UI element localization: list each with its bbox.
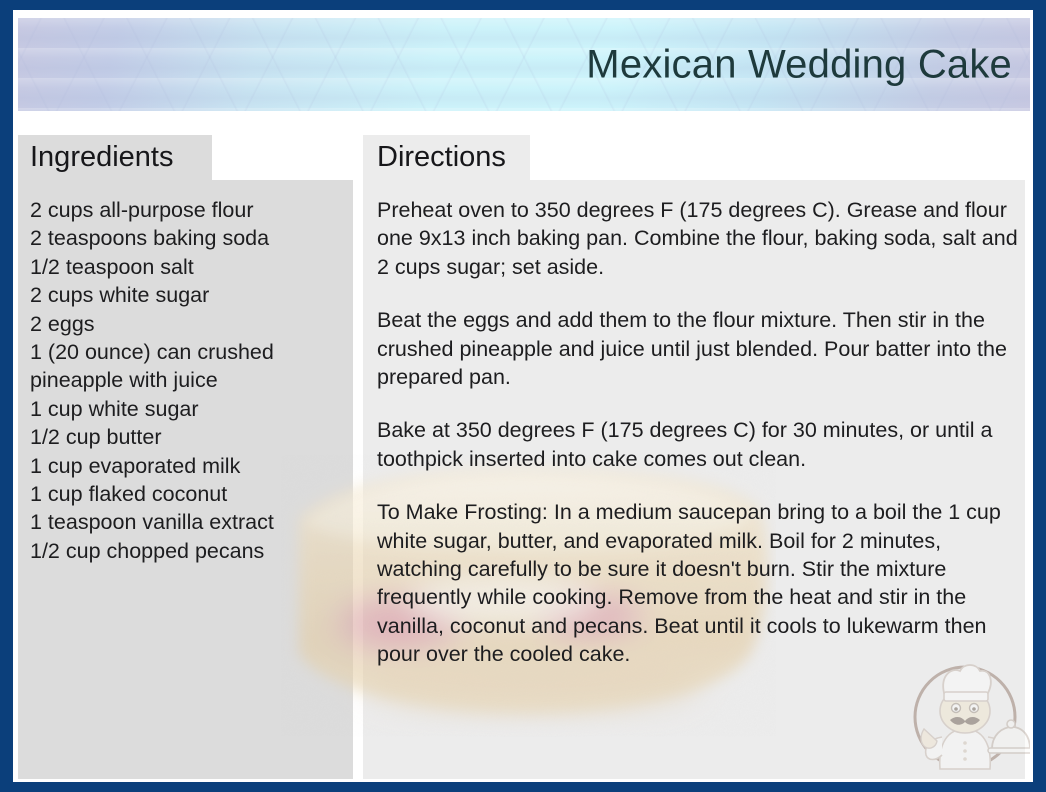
recipe-title: Mexican Wedding Cake — [586, 42, 1012, 87]
list-item: 1/2 cup chopped pecans — [30, 537, 350, 565]
directions-text: Preheat oven to 350 degrees F (175 degre… — [377, 196, 1027, 669]
directions-section-header: Directions — [363, 135, 530, 180]
directions-paragraph: Bake at 350 degrees F (175 degrees C) fo… — [377, 416, 1027, 473]
directions-paragraph: To Make Frosting: In a medium saucepan b… — [377, 498, 1027, 668]
list-item: 2 cups white sugar — [30, 281, 350, 309]
header-banner: Mexican Wedding Cake — [18, 18, 1030, 111]
list-item: 1/2 teaspoon salt — [30, 253, 350, 281]
directions-heading-label: Directions — [377, 141, 506, 174]
list-item: 1 cup white sugar — [30, 395, 350, 423]
list-item: 2 eggs — [30, 310, 350, 338]
list-item: 1 cup flaked coconut — [30, 480, 350, 508]
directions-paragraph: Beat the eggs and add them to the flour … — [377, 306, 1027, 391]
ingredients-heading-label: Ingredients — [30, 141, 174, 174]
list-item: 2 teaspoons baking soda — [30, 224, 350, 252]
list-item: 1 (20 ounce) can crushed pineapple with … — [30, 338, 350, 395]
ingredients-list: 2 cups all-purpose flour 2 teaspoons bak… — [30, 196, 350, 565]
card-inner: Mexican Wedding Cake Ingredients Directi… — [13, 10, 1033, 782]
ingredients-section-header: Ingredients — [18, 135, 212, 180]
list-item: 2 cups all-purpose flour — [30, 196, 350, 224]
list-item: 1 teaspoon vanilla extract — [30, 508, 350, 536]
list-item: 1/2 cup butter — [30, 423, 350, 451]
list-item: 1 cup evaporated milk — [30, 452, 350, 480]
directions-paragraph: Preheat oven to 350 degrees F (175 degre… — [377, 196, 1027, 281]
recipe-card: Mexican Wedding Cake Ingredients Directi… — [0, 0, 1046, 792]
